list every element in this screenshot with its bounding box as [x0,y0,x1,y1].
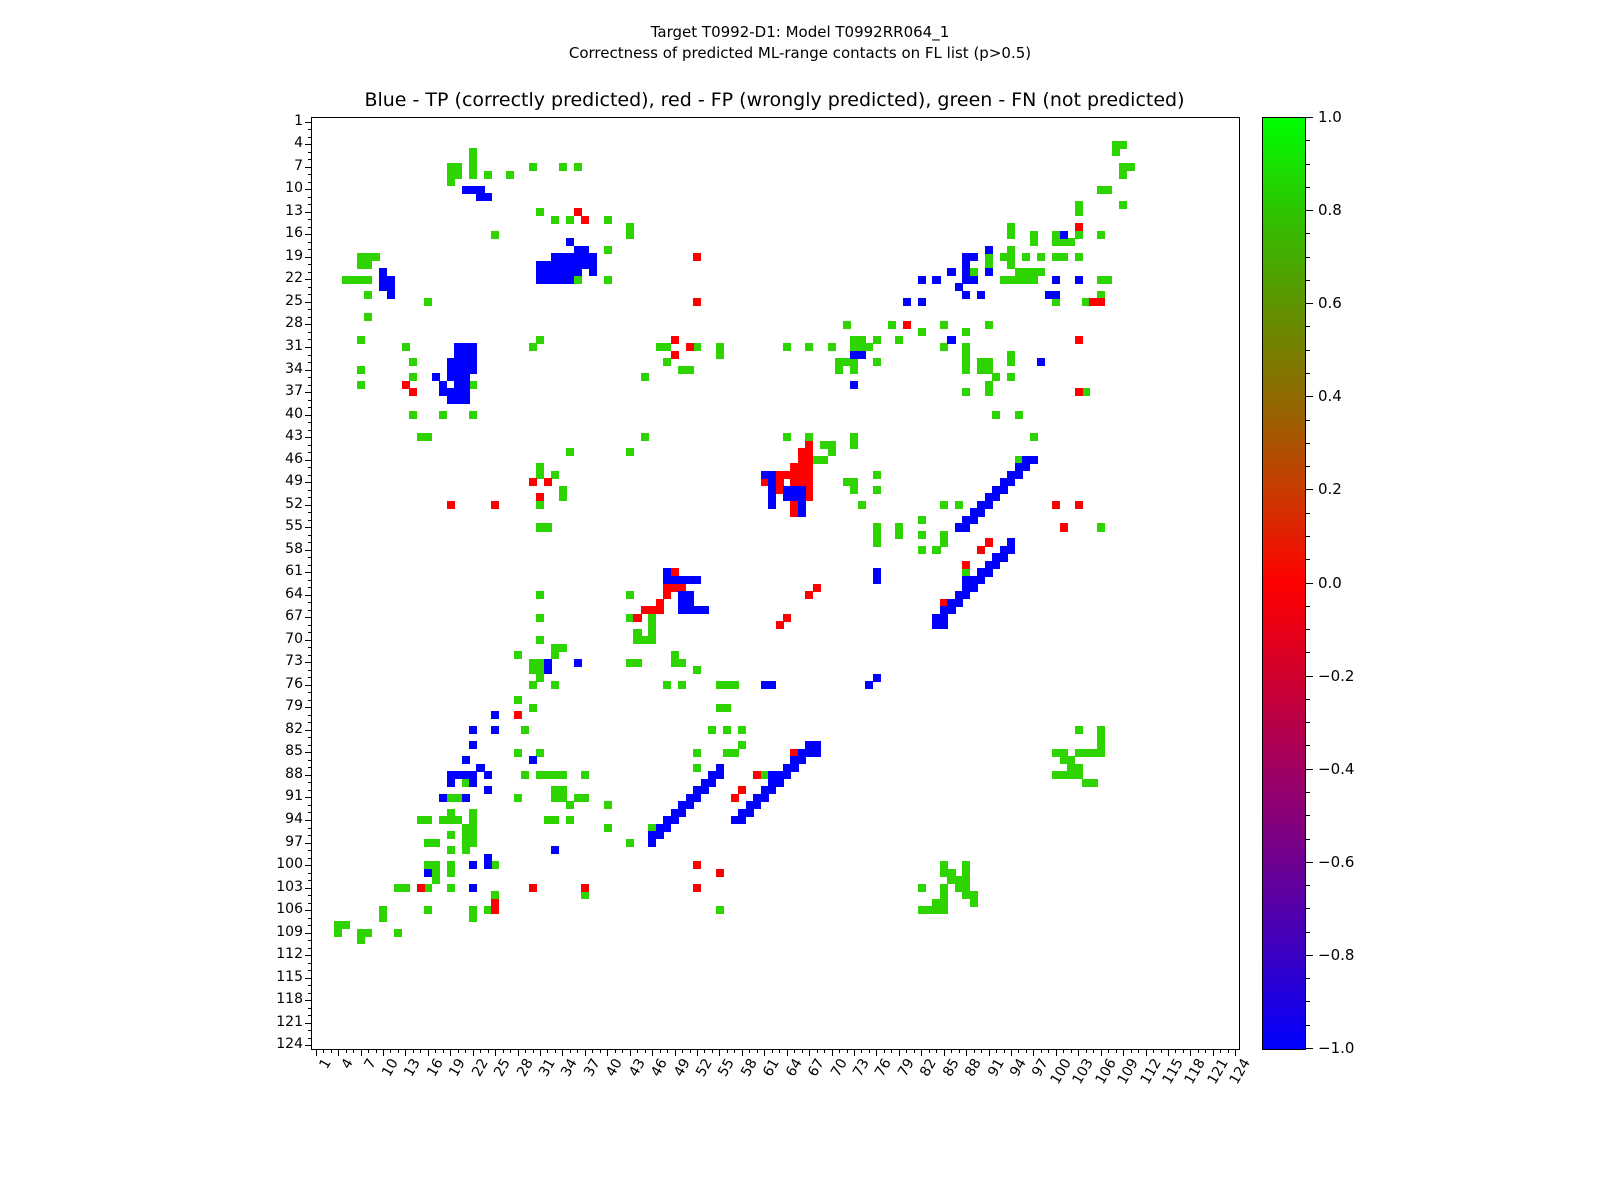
y-tick-label: 19 [285,248,303,264]
contact-cell-fn [663,358,671,366]
colorbar-minor-tick [1306,559,1310,560]
contact-cell-fn [364,276,372,284]
contact-cell-fn [566,448,574,456]
contact-cell-tp [776,779,784,787]
y-tick-mark [305,1045,312,1046]
y-tick-mark [308,272,312,273]
contact-cell-fn [364,291,372,299]
y-tick-mark [305,415,312,416]
colorbar-tick-label: −0.2 [1318,667,1354,685]
contact-cell-fn [424,816,432,824]
contact-cell-fn [828,441,836,449]
contact-cell-tp [439,794,447,802]
contact-cell-fn [574,276,582,284]
y-tick-mark [308,970,312,971]
contact-cell-fn [783,433,791,441]
y-tick-mark [308,858,312,859]
y-tick-mark [308,430,312,431]
colorbar-major-tick [1306,489,1313,490]
x-tick-label: 1 [316,1056,334,1072]
contact-cell-tp [462,794,470,802]
contact-cell-tp [566,276,574,284]
y-tick-label: 16 [285,225,303,241]
x-tick-label: 43 [626,1056,649,1079]
contact-cell-tp [462,186,470,194]
colorbar-major-tick [1306,117,1313,118]
y-tick-mark [308,737,312,738]
contact-cell-fn [723,726,731,734]
colorbar-tick-labels: −1.0−0.8−0.6−0.4−0.20.00.20.40.60.81.0 [1262,117,1382,1048]
contact-cell-fp [529,478,537,486]
contact-cell-fn [723,704,731,712]
y-tick-mark [305,685,312,686]
y-tick-label: 31 [285,338,303,354]
colorbar-minor-tick [1306,1001,1310,1002]
y-tick-mark [308,918,312,919]
contact-cell-fn [604,801,612,809]
contact-cell-fn [364,261,372,269]
contact-cell-fp [693,253,701,261]
contact-cell-fn [873,358,881,366]
x-tick-label: 76 [873,1056,896,1079]
contact-cell-fn [469,839,477,847]
contact-cell-fn [888,321,896,329]
y-tick-label: 97 [285,834,303,850]
colorbar-tick-label: −0.4 [1318,760,1354,778]
contact-cell-fn [469,906,477,914]
contact-cell-tp [663,576,671,584]
contact-cell-fn [1007,373,1015,381]
x-tick-label: 85 [940,1056,963,1079]
contact-cell-tp [469,366,477,374]
x-tick-label: 64 [783,1056,806,1079]
contact-cell-tp [529,756,537,764]
y-tick-mark [305,662,312,663]
contact-cell-fn [402,884,410,892]
colorbar-minor-tick [1306,652,1310,653]
contact-cell-fn [1022,253,1030,261]
contact-cell-tp [454,771,462,779]
colorbar-minor-tick [1306,187,1310,188]
contact-cell-tp [648,839,656,847]
contact-cell-fn [828,448,836,456]
y-tick-mark [308,925,312,926]
contact-cell-tp [551,846,559,854]
contact-cell-fn [1037,253,1045,261]
x-tick-mark [316,1049,317,1056]
y-tick-mark [308,670,312,671]
y-tick-mark [308,520,312,521]
contact-cell-fn [1097,741,1105,749]
colorbar-tick-label: 0.6 [1318,294,1342,312]
contact-cell-tp [970,276,978,284]
y-tick-mark [308,362,312,363]
contact-cell-tp [1007,546,1015,554]
y-tick-mark [305,978,312,979]
contact-map-cells [312,118,1239,1049]
contact-cell-tp [469,861,477,869]
y-tick-mark [305,122,312,123]
contact-cell-fn [1015,411,1023,419]
contact-cell-fn [424,433,432,441]
contact-cell-fn [962,351,970,359]
contact-cell-fn [940,538,948,546]
contact-cell-fp [581,884,589,892]
contact-cell-fn [559,163,567,171]
y-tick-mark [308,512,312,513]
contact-cell-tp [708,779,716,787]
contact-cell-fn [424,884,432,892]
y-tick-mark [305,910,312,911]
contact-cell-tp [484,193,492,201]
contact-cell-fn [604,216,612,224]
y-tick-mark [308,204,312,205]
contact-cell-fn [357,936,365,944]
contact-cell-fn [626,591,634,599]
contact-cell-fn [469,381,477,389]
y-tick-mark [305,617,312,618]
x-tick-label: 25 [491,1056,514,1079]
y-tick-mark [308,422,312,423]
y-tick-mark [305,257,312,258]
axes-title-legend: Blue - TP (correctly predicted), red - F… [311,89,1238,111]
contact-cell-fn [529,704,537,712]
contact-cell-fp [656,606,664,614]
contact-cell-tp [491,726,499,734]
colorbar-minor-tick [1306,932,1310,933]
y-tick-mark [308,227,312,228]
contact-cell-tp [962,261,970,269]
contact-cell-tp [1022,463,1030,471]
contact-cell-fn [932,546,940,554]
y-tick-mark [308,242,312,243]
colorbar-minor-tick [1306,722,1310,723]
contact-cell-fp [903,321,911,329]
y-tick-mark [308,219,312,220]
x-axis-tick-labels: 1471013161922252831343740434649525558616… [311,1056,1238,1126]
contact-cell-fn [641,373,649,381]
contact-cell-fn [918,531,926,539]
contact-cell-tp [424,869,432,877]
x-tick-label: 40 [603,1056,626,1079]
contact-cell-tp [977,576,985,584]
contact-cell-tp [1052,276,1060,284]
contact-cell-fn [648,629,656,637]
contact-cell-tp [469,343,477,351]
contact-cell-tp [858,351,866,359]
contact-cell-fn [828,343,836,351]
y-tick-label: 40 [285,406,303,422]
contact-cell-fn [432,861,440,869]
y-tick-mark [305,482,312,483]
y-tick-mark [308,812,312,813]
contact-cell-tp [1075,276,1083,284]
contact-cell-fp [491,501,499,509]
y-tick-mark [305,572,312,573]
y-tick-mark [305,775,312,776]
y-tick-mark [308,264,312,265]
contact-cell-fn [551,816,559,824]
y-tick-mark [308,722,312,723]
contact-cell-tp [1052,291,1060,299]
contact-cell-fn [1030,276,1038,284]
contact-cell-tp [761,794,769,802]
contact-cell-fn [469,914,477,922]
colorbar-minor-tick [1306,257,1310,258]
y-tick-mark [308,400,312,401]
y-tick-label: 22 [285,270,303,286]
x-tick-label: 10 [379,1056,402,1079]
contact-cell-tp [850,381,858,389]
y-tick-mark [308,895,312,896]
y-tick-mark [305,279,312,280]
contact-cell-fn [1082,749,1090,757]
y-tick-mark [308,782,312,783]
y-tick-mark [305,1000,312,1001]
contact-cell-tp [970,584,978,592]
contact-cell-fn [566,216,574,224]
contact-cell-tp [798,756,806,764]
contact-cell-fn [626,231,634,239]
contact-cell-tp [1037,358,1045,366]
contact-cell-fn [641,636,649,644]
y-tick-label: 61 [285,563,303,579]
contact-cell-fp [633,614,641,622]
contact-cell-tp [469,884,477,892]
contact-cell-fn [1104,186,1112,194]
contact-cell-fp [1075,388,1083,396]
y-tick-mark [308,385,312,386]
y-tick-mark [308,535,312,536]
contact-cell-tp [678,809,686,817]
y-tick-label: 106 [276,901,303,917]
contact-cell-tp [447,779,455,787]
y-tick-mark [305,888,312,889]
contact-cell-tp [783,486,791,494]
contact-cell-fn [820,456,828,464]
colorbar-major-tick [1306,210,1313,211]
x-tick-label-wrap: 1 [321,1048,339,1064]
contact-cell-fn [985,321,993,329]
contact-cell-tp [469,741,477,749]
y-tick-mark [308,445,312,446]
contact-cell-fn [559,644,567,652]
y-tick-mark [308,377,312,378]
contact-cell-tp [693,576,701,584]
y-tick-label: 43 [285,428,303,444]
y-tick-label: 76 [285,676,303,692]
contact-cell-fn [940,321,948,329]
x-tick-label: 55 [716,1056,739,1079]
contact-cell-fn [648,636,656,644]
contact-cell-tp [566,238,574,246]
contact-cell-tp [962,276,970,284]
contact-cell-fn [940,343,948,351]
contact-cell-fn [394,929,402,937]
y-tick-mark [305,189,312,190]
contact-cell-fn [1075,726,1083,734]
contact-cell-fn [873,471,881,479]
y-tick-label: 28 [285,315,303,331]
contact-cell-tp [1007,478,1015,486]
y-tick-mark [305,234,312,235]
contact-cell-fp [776,621,784,629]
contact-cell-fn [1075,253,1083,261]
contact-cell-fn [357,381,365,389]
contact-cell-tp [977,291,985,299]
contact-cell-fn [469,171,477,179]
contact-cell-fn [529,666,537,674]
y-tick-mark [308,294,312,295]
contact-cell-fn [1007,253,1015,261]
contact-cell-fn [454,171,462,179]
contact-cell-fp [716,869,724,877]
contact-cell-tp [932,276,940,284]
contact-cell-tp [574,659,582,667]
contact-cell-fn [716,351,724,359]
y-tick-mark [308,625,312,626]
y-tick-mark [305,752,312,753]
y-tick-mark [308,715,312,716]
contact-cell-fn [551,681,559,689]
contact-cell-tp [768,501,776,509]
contact-cell-tp [656,831,664,839]
contact-cell-fp [738,786,746,794]
contact-cell-tp [903,298,911,306]
colorbar-minor-tick [1306,745,1310,746]
y-tick-mark [305,144,312,145]
contact-cell-fp [1075,501,1083,509]
contact-cell-tp [918,298,926,306]
colorbar-minor-tick [1306,164,1310,165]
contact-cell-fn [364,929,372,937]
y-tick-mark [308,1030,312,1031]
contact-cell-tp [469,726,477,734]
y-tick-mark [308,700,312,701]
contact-cell-tp [1000,553,1008,561]
contact-cell-fn [447,861,455,869]
contact-cell-fn [731,681,739,689]
contact-cell-fn [357,366,365,374]
y-tick-mark [308,287,312,288]
contact-cell-fn [1097,231,1105,239]
contact-cell-tp [432,373,440,381]
contact-cell-fn [439,411,447,419]
y-tick-label: 88 [285,766,303,782]
contact-cell-fn [918,516,926,524]
colorbar-minor-tick [1306,885,1310,886]
contact-cell-fn [536,336,544,344]
contact-cell-fn [604,276,612,284]
contact-cell-fn [850,486,858,494]
contact-cell-tp [491,711,499,719]
contact-cell-fn [536,749,544,757]
y-tick-mark [308,182,312,183]
x-tick-label: 73 [850,1056,873,1079]
y-tick-mark [308,197,312,198]
y-tick-label: 4 [294,135,303,151]
contact-cell-fn [514,651,522,659]
y-tick-label: 13 [285,203,303,219]
contact-cell-fn [1007,231,1015,239]
contact-cell-fp [805,591,813,599]
y-tick-mark [308,580,312,581]
colorbar-minor-tick [1306,978,1310,979]
y-tick-label: 52 [285,496,303,512]
y-tick-label: 49 [285,473,303,489]
contact-cell-fn [835,366,843,374]
colorbar-tick-label: 0.0 [1318,574,1342,592]
contact-cell-tp [663,568,671,576]
contact-cell-fn [708,726,716,734]
contact-cell-tp [746,809,754,817]
contact-cell-tp [678,591,686,599]
contact-cell-fn [738,726,746,734]
contact-cell-fn [536,614,544,622]
colorbar-tick-label: 0.4 [1318,387,1342,405]
contact-map-plot-area[interactable] [311,117,1240,1050]
contact-cell-fn [873,336,881,344]
y-tick-mark [305,1023,312,1024]
x-tick-label-wrap: 7 [366,1048,384,1064]
y-tick-mark [305,437,312,438]
contact-cell-fn [514,749,522,757]
contact-cell-tp [962,523,970,531]
contact-cell-fn [1104,276,1112,284]
y-tick-mark [308,309,312,310]
contact-cell-fn [417,816,425,824]
contact-cell-fn [566,816,574,824]
contact-cell-fn [409,358,417,366]
y-tick-mark [308,745,312,746]
y-tick-mark [308,452,312,453]
contact-cell-fn [895,336,903,344]
contact-cell-tp [873,674,881,682]
contact-cell-fp [544,478,552,486]
y-tick-mark [308,602,312,603]
contact-cell-fn [1007,223,1015,231]
colorbar-minor-tick [1306,1025,1310,1026]
contact-cell-tp [1000,486,1008,494]
contact-cell-fn [424,298,432,306]
colorbar-tick-label: −0.8 [1318,946,1354,964]
y-tick-mark [308,993,312,994]
contact-cell-fn [693,666,701,674]
contact-cell-fn [693,749,701,757]
contact-cell-fn [805,343,813,351]
contact-cell-fp [409,388,417,396]
contact-cell-fn [962,388,970,396]
x-tick-label: 91 [985,1056,1008,1079]
x-tick-label: 52 [693,1056,716,1079]
contact-cell-tp [663,824,671,832]
contact-cell-fn [940,501,948,509]
contact-cell-fn [581,891,589,899]
contact-cell-fn [379,914,387,922]
contact-cell-fn [1089,779,1097,787]
contact-cell-fn [551,651,559,659]
contact-cell-fn [551,794,559,802]
contact-cell-tp [484,786,492,794]
contact-cell-tp [469,351,477,359]
y-tick-mark [308,692,312,693]
y-tick-mark [308,587,312,588]
contact-cell-fn [447,178,455,186]
y-tick-mark [305,370,312,371]
y-tick-mark [305,595,312,596]
colorbar-minor-tick [1306,420,1310,421]
contact-cell-fn [932,906,940,914]
